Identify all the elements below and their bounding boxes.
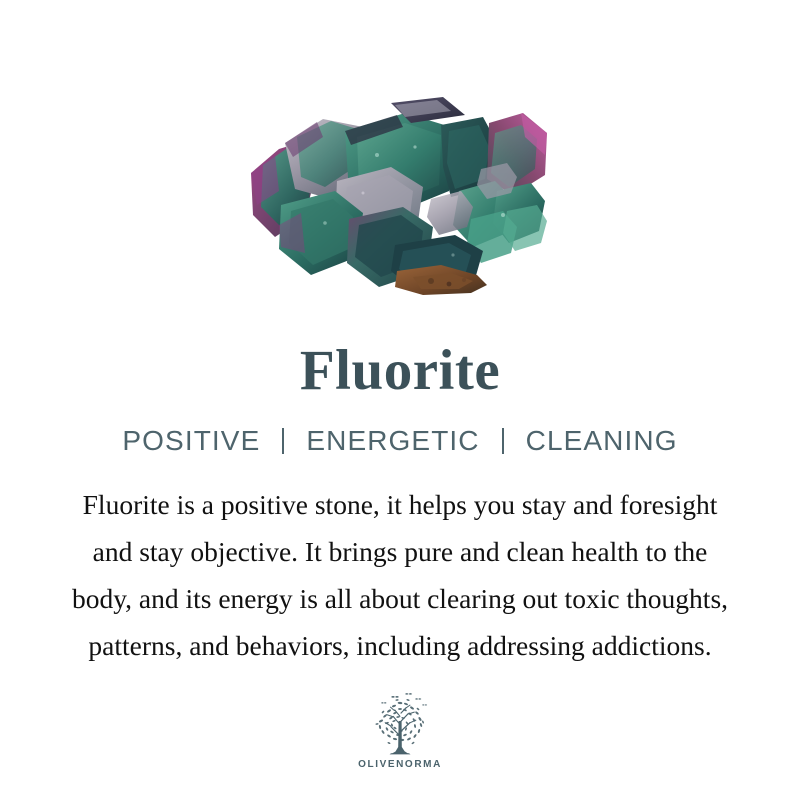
description-line-1: Fluorite is a positive stone, it helps y… (14, 481, 786, 528)
hero-image-area (0, 0, 800, 300)
description-paragraph: Fluorite is a positive stone, it helps y… (14, 455, 786, 669)
olive-tree-icon (361, 691, 439, 757)
description-line-4: patterns, and behaviors, including addre… (14, 622, 786, 669)
brand-logo: OLIVENORMA (358, 691, 442, 770)
keyword-cleaning: CLEANING (526, 427, 678, 455)
keyword-separator-1 (282, 428, 284, 454)
keyword-row: POSITIVE ENERGETIC CLEANING (122, 427, 677, 455)
description-line-3: body, and its energy is all about cleari… (14, 575, 786, 622)
fluorite-crystal-image (245, 95, 555, 295)
description-line-2: and stay objective. It brings pure and c… (14, 528, 786, 575)
keyword-positive: POSITIVE (122, 427, 260, 455)
keyword-energetic: ENERGETIC (306, 427, 479, 455)
fluorite-info-card: Fluorite POSITIVE ENERGETIC CLEANING Flu… (0, 0, 800, 800)
keyword-separator-2 (502, 428, 504, 454)
crystal-illustration (245, 95, 555, 295)
page-title: Fluorite (300, 300, 500, 399)
brand-wordmark: OLIVENORMA (358, 760, 442, 770)
